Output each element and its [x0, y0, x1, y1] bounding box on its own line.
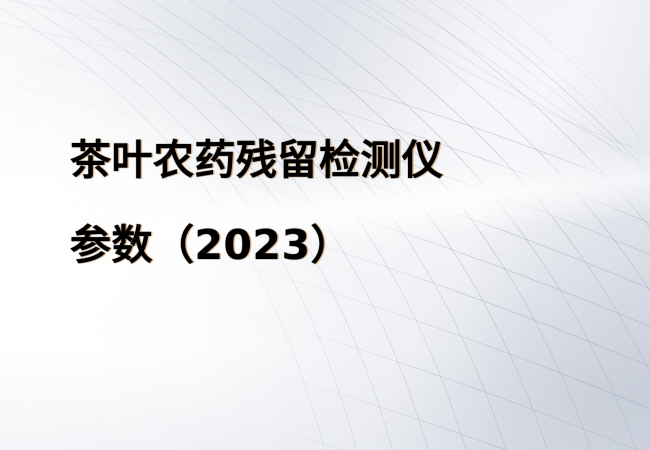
- headline-line-1: 茶叶农药残留检测仪: [70, 118, 590, 203]
- headline-block: 茶叶农药残留检测仪 参数（2023）: [70, 118, 590, 288]
- headline-line-2: 参数（2023）: [70, 203, 590, 288]
- promo-banner: 茶叶农药残留检测仪 参数（2023）: [0, 0, 650, 450]
